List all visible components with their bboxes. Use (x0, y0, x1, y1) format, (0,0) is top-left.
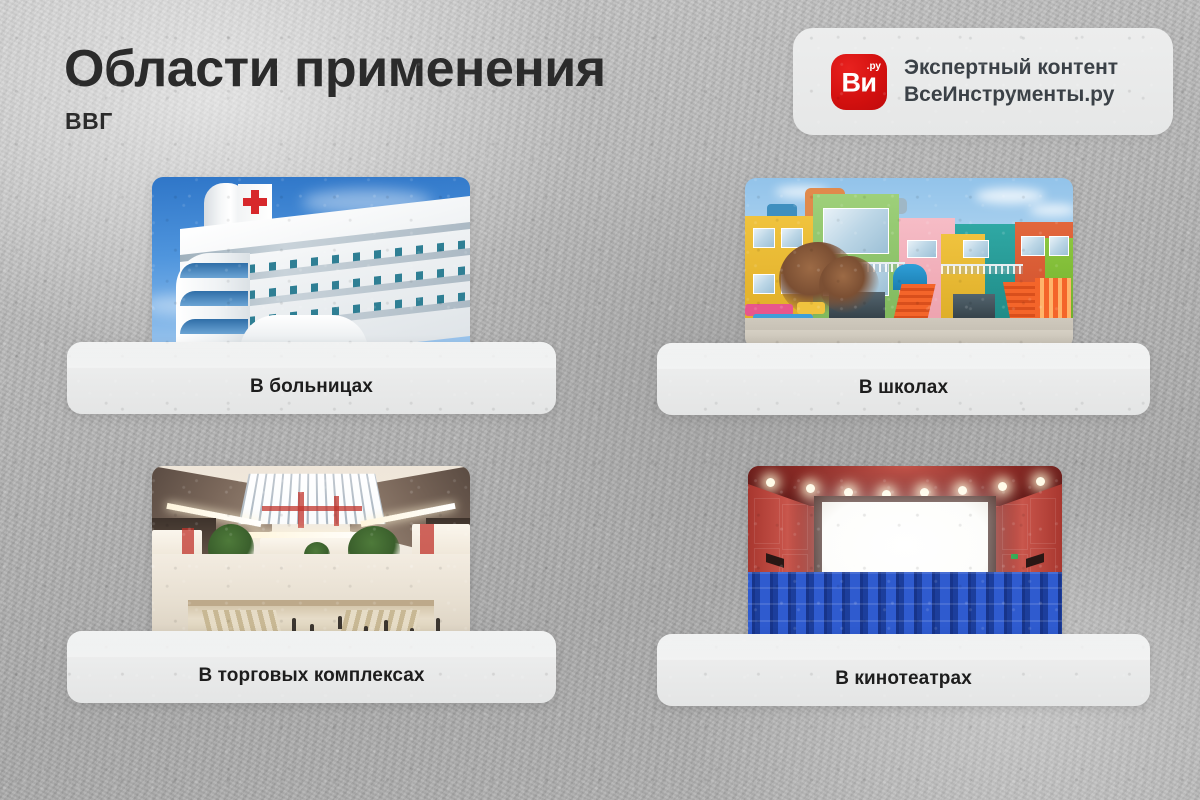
card-label-school: В школах (657, 343, 1150, 415)
brand-line-2: ВсеИнструменты.ру (904, 82, 1118, 108)
brand-badge: Ви .ру Экспертный контент ВсеИнструменты… (793, 28, 1173, 135)
school-photo (745, 178, 1073, 348)
brand-text: Экспертный контент ВсеИнструменты.ру (904, 55, 1118, 108)
logo-mark-text: Ви (831, 69, 887, 96)
card-label-text: В торговых комплексах (198, 665, 424, 687)
shopping-mall-photo (152, 466, 470, 646)
logo-tld-text: .ру (867, 62, 881, 72)
cinema-hall-photo (748, 466, 1062, 646)
hospital-photo (152, 177, 470, 357)
slide-canvas: Области применения ВВГ Ви .ру Экспертный… (0, 0, 1200, 800)
card-label-text: В школах (859, 377, 948, 399)
card-label-cinema: В кинотеатрах (657, 634, 1150, 706)
card-label-text: В больницах (250, 376, 373, 398)
vseinstrumenty-logo-icon: Ви .ру (831, 54, 887, 110)
brand-line-1: Экспертный контент (904, 55, 1118, 81)
page-subtitle: ВВГ (65, 110, 113, 133)
card-label-hospital: В больницах (67, 342, 556, 414)
page-title: Области применения (64, 43, 606, 95)
card-label-shopping-mall: В торговых комплексах (67, 631, 556, 703)
card-label-text: В кинотеатрах (835, 668, 972, 690)
